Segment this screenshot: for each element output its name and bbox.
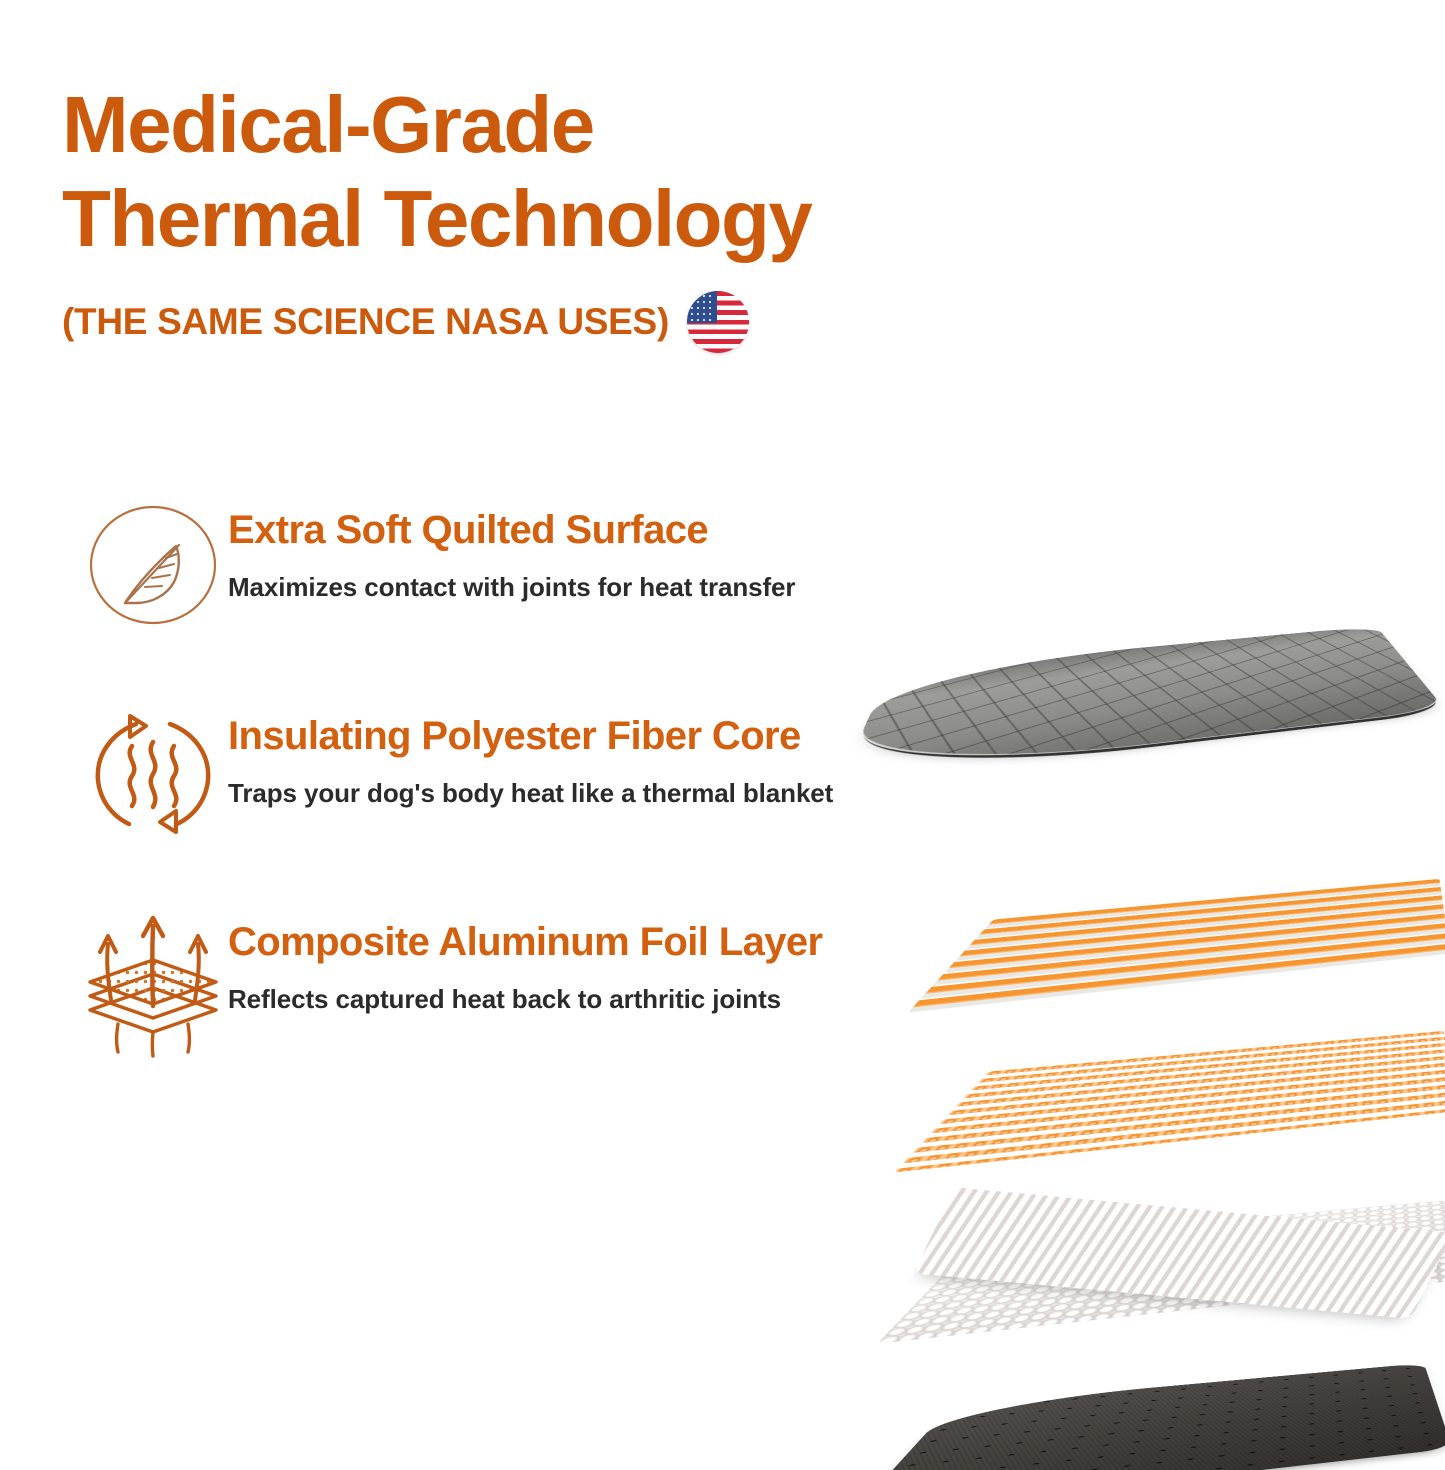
flag-canton [687, 291, 717, 323]
product-exploded-view [845, 470, 1445, 1470]
heat-circulation-icon [78, 704, 228, 836]
feature-text-block: Composite Aluminum Foil Layer Reflects c… [228, 910, 868, 1018]
feature-item-fiber-core: Insulating Polyester Fiber Core Traps yo… [78, 704, 868, 836]
feature-title: Composite Aluminum Foil Layer [228, 916, 868, 969]
header: Medical-Grade Thermal Technology (THE SA… [62, 78, 1122, 353]
headline-line-2: Thermal Technology [62, 172, 1122, 266]
subline-row: (THE SAME SCIENCE NASA USES) [62, 291, 1122, 353]
infographic-page: Medical-Grade Thermal Technology (THE SA… [0, 0, 1445, 1470]
feature-title: Extra Soft Quilted Surface [228, 504, 868, 557]
layer-dark-perforated-nonslip-base [863, 1210, 1445, 1470]
feather-leaf-icon [78, 498, 228, 630]
headline-line-1: Medical-Grade [62, 78, 1122, 172]
feature-text-block: Insulating Polyester Fiber Core Traps yo… [228, 704, 868, 812]
feature-title: Insulating Polyester Fiber Core [228, 710, 868, 763]
layer-quilted-gray-top-fabric [855, 492, 1445, 792]
feature-description: Reflects captured heat back to arthritic… [228, 981, 868, 1018]
subline-text: (THE SAME SCIENCE NASA USES) [62, 301, 669, 343]
feature-text-block: Extra Soft Quilted Surface Maximizes con… [228, 498, 868, 606]
feature-list: Extra Soft Quilted Surface Maximizes con… [78, 498, 868, 1042]
layered-foil-reflect-icon [78, 910, 228, 1042]
feature-item-quilted-surface: Extra Soft Quilted Surface Maximizes con… [78, 498, 868, 630]
us-flag-icon [687, 291, 749, 353]
feature-item-foil-layer: Composite Aluminum Foil Layer Reflects c… [78, 910, 868, 1042]
base-surface [850, 1363, 1445, 1470]
base-perforation-texture [850, 1363, 1445, 1470]
feature-description: Maximizes contact with joints for heat t… [228, 569, 868, 606]
feature-description: Traps your dog's body heat like a therma… [228, 775, 868, 812]
